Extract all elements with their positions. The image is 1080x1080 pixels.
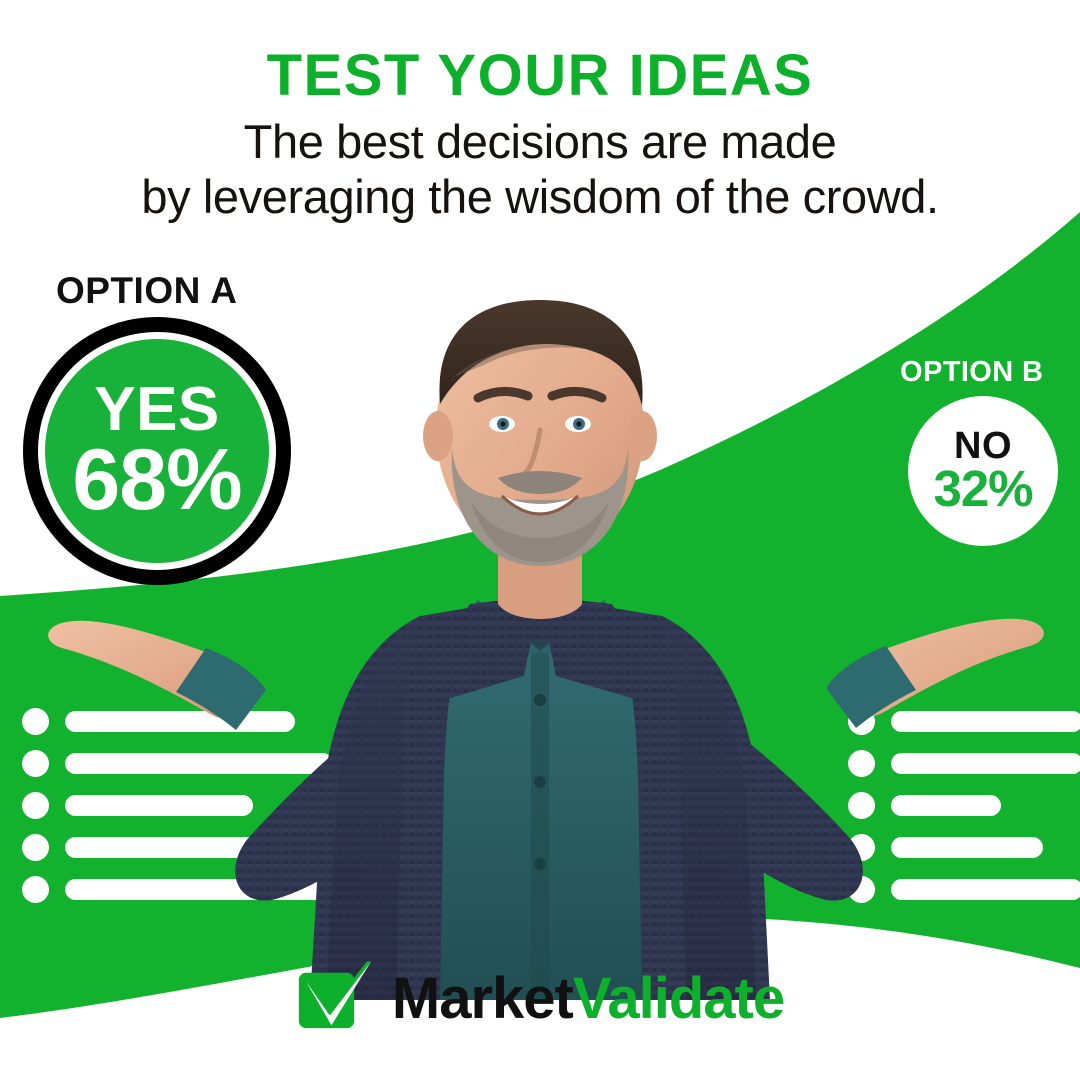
list-item <box>22 784 373 826</box>
bullet-bar <box>891 753 1080 774</box>
headline-block: TEST YOUR IDEAS The best decisions are m… <box>0 46 1080 224</box>
bullet-bar <box>891 795 1001 816</box>
list-item <box>22 868 373 910</box>
brand-logo[interactable]: MarketValidate <box>0 960 1080 1038</box>
bullet-dot-icon <box>22 708 49 735</box>
bullet-dot-icon <box>22 750 49 777</box>
option-b-block[interactable]: OPTION B NO 32% <box>888 358 1068 546</box>
option-b-label: OPTION B <box>900 358 1068 387</box>
brand-word-market: Market <box>392 966 573 1031</box>
list-item <box>848 826 1080 868</box>
bullet-bar <box>65 795 253 816</box>
bullet-dot-icon <box>22 792 49 819</box>
bullet-bar <box>891 711 1080 732</box>
bullet-dot-icon <box>22 834 49 861</box>
list-item <box>22 742 373 784</box>
option-b-percent: 32% <box>933 463 1032 514</box>
option-a-disc: YES 68% <box>45 339 269 563</box>
bullet-list-right <box>848 700 1080 910</box>
bullet-dot-icon <box>848 834 875 861</box>
bullet-bar <box>65 711 295 732</box>
bullet-dot-icon <box>848 750 875 777</box>
option-a-vote: YES <box>94 380 220 440</box>
poster-canvas: TEST YOUR IDEAS The best decisions are m… <box>0 0 1080 1080</box>
brand-wordmark: MarketValidate <box>392 970 784 1028</box>
option-a-label: OPTION A <box>56 272 318 309</box>
bullet-bar <box>65 753 333 774</box>
list-item <box>848 700 1080 742</box>
bullet-dot-icon <box>848 792 875 819</box>
bullet-list-left <box>22 700 373 910</box>
bullet-bar <box>891 879 1080 900</box>
brand-word-validate: Validate <box>573 966 784 1031</box>
bullet-dot-icon <box>22 876 49 903</box>
list-item <box>848 742 1080 784</box>
option-a-gauge[interactable]: YES 68% <box>23 317 291 585</box>
page-title: TEST YOUR IDEAS <box>0 46 1080 105</box>
bullet-dot-icon <box>848 876 875 903</box>
option-b-vote: NO <box>954 428 1012 464</box>
list-item <box>22 826 373 868</box>
option-a-block[interactable]: OPTION A YES 68% <box>18 272 318 585</box>
subtitle-line-2: by leveraging the wisdom of the crowd. <box>0 170 1080 225</box>
bullet-dot-icon <box>848 708 875 735</box>
list-item <box>848 784 1080 826</box>
list-item <box>22 700 373 742</box>
option-a-percent: 68% <box>72 438 241 522</box>
bullet-bar <box>891 837 1043 858</box>
subtitle-line-1: The best decisions are made <box>0 115 1080 170</box>
page-subtitle: The best decisions are made by leveragin… <box>0 115 1080 224</box>
check-square-icon <box>296 960 374 1038</box>
bullet-bar <box>65 837 355 858</box>
list-item <box>848 868 1080 910</box>
bullet-bar <box>65 879 373 900</box>
option-b-disc[interactable]: NO 32% <box>908 396 1058 546</box>
